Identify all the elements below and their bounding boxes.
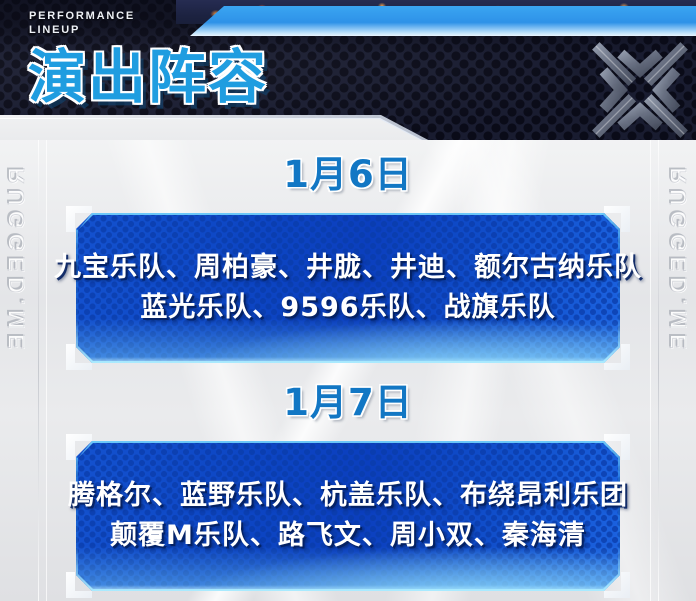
- page-title: 演出阵容: [28, 48, 268, 106]
- panel-seam-right-inner: [650, 136, 651, 601]
- date-title-day-2: 1月7日: [0, 383, 696, 423]
- accent-diagonal-bar: [190, 6, 696, 36]
- lineup-line: 腾格尔、蓝野乐队、杭盖乐队、布绕昂利乐团: [68, 480, 628, 512]
- kicker-line-1: PERFORMANCE: [29, 9, 135, 23]
- lineup-panel-day-2: 腾格尔、蓝野乐队、杭盖乐队、布绕昂利乐团 颠覆M乐队、路飞文、周小双、秦海清: [76, 441, 620, 591]
- panel-seam-left-inner: [46, 136, 47, 601]
- lineup-line: 蓝光乐队、9596乐队、战旗乐队: [140, 292, 555, 324]
- lineup-text-day-1: 九宝乐队、周柏豪、井胧、井迪、额尔古纳乐队 蓝光乐队、9596乐队、战旗乐队: [76, 213, 620, 363]
- lineup-line: 颠覆M乐队、路飞文、周小双、秦海清: [110, 520, 586, 552]
- kicker-line-2: LINEUP: [29, 23, 135, 37]
- panel-seam-right: [658, 136, 659, 601]
- panel-seam-left: [38, 136, 39, 601]
- lineup-text-day-2: 腾格尔、蓝野乐队、杭盖乐队、布绕昂利乐团 颠覆M乐队、路飞文、周小双、秦海清: [76, 441, 620, 591]
- header-banner: PERFORMANCE LINEUP 演出阵容: [0, 0, 696, 140]
- kicker-text: PERFORMANCE LINEUP: [29, 9, 135, 37]
- x-emblem-icon: [592, 42, 688, 138]
- lineup-panel-day-1: 九宝乐队、周柏豪、井胧、井迪、额尔古纳乐队 蓝光乐队、9596乐队、战旗乐队: [76, 213, 620, 363]
- poster-canvas: RUGGED.ME RUGGED.ME PERFORMANCE LINEUP 演…: [0, 0, 696, 601]
- date-title-day-1: 1月6日: [0, 155, 696, 195]
- lineup-line: 九宝乐队、周柏豪、井胧、井迪、额尔古纳乐队: [54, 252, 642, 284]
